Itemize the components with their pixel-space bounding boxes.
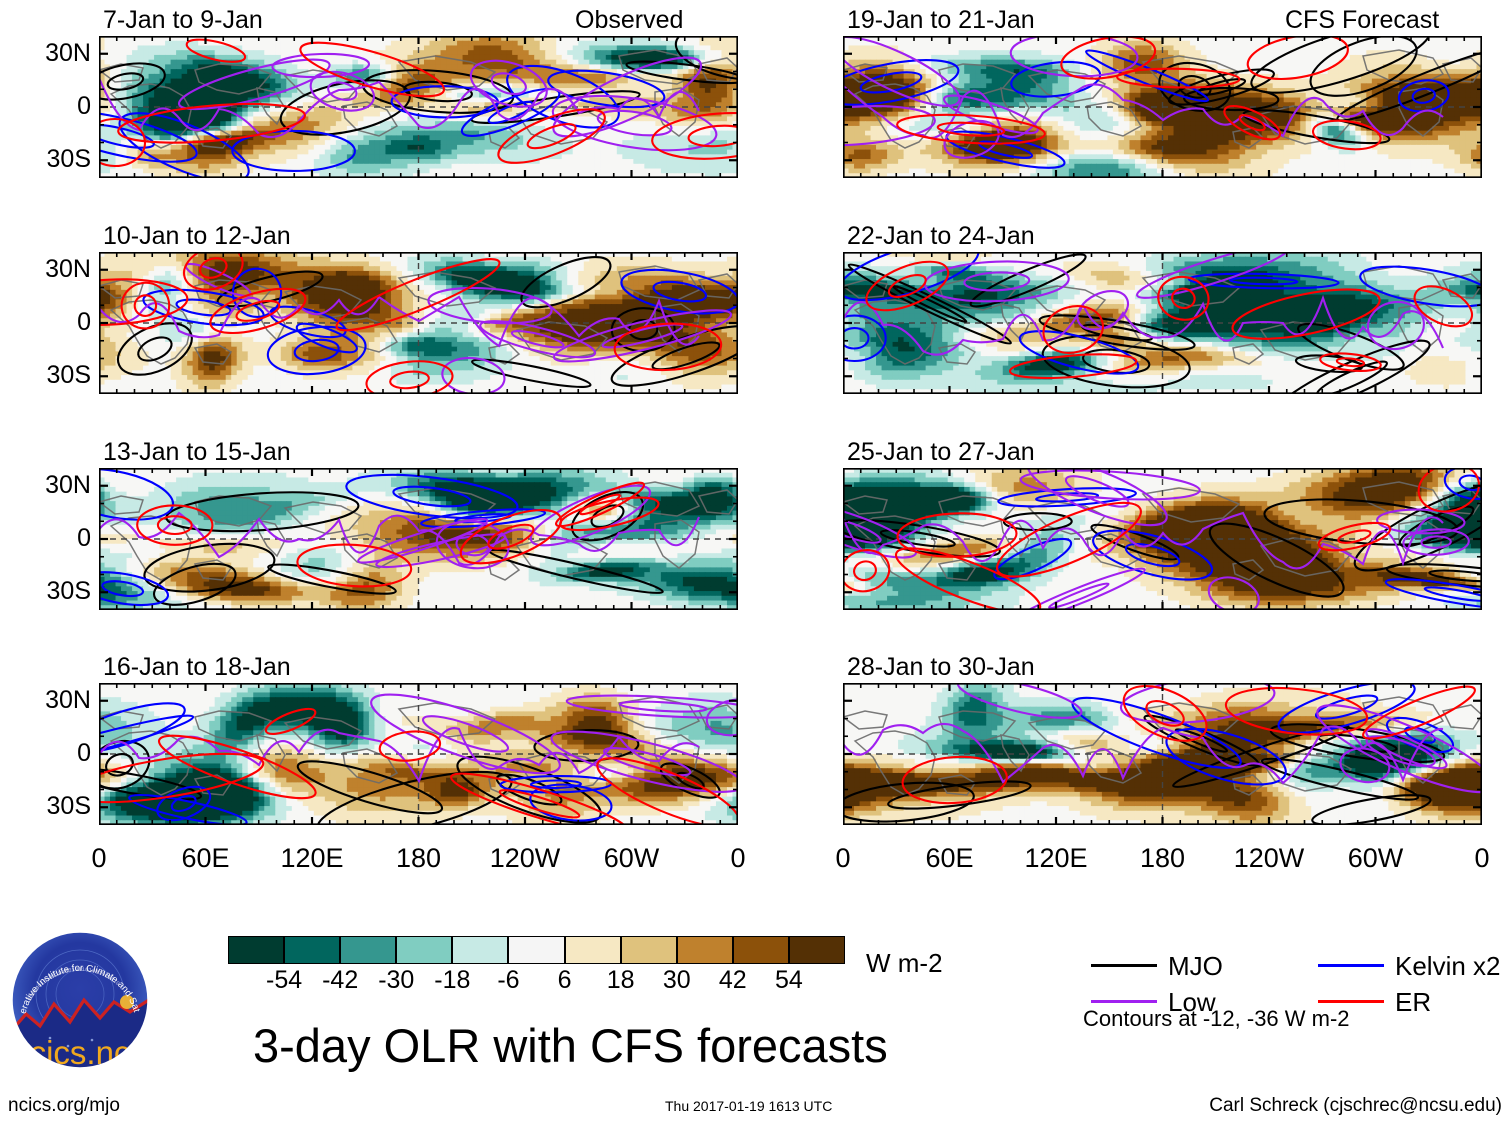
y-tick-label: 30S bbox=[3, 794, 91, 819]
legend-label: MJO bbox=[1168, 953, 1223, 979]
map-canvas bbox=[843, 252, 1482, 394]
main-title: 3-day OLR with CFS forecasts bbox=[253, 1022, 888, 1069]
y-tick-label: 0 bbox=[3, 526, 91, 551]
x-tick-label: 0 bbox=[678, 845, 798, 872]
x-tick-label: 0 bbox=[39, 845, 159, 872]
legend-line-er bbox=[1318, 1000, 1384, 1003]
colorbar-segment bbox=[565, 936, 621, 964]
x-tick-label: 120E bbox=[252, 845, 372, 872]
x-tick-label: 0 bbox=[783, 845, 903, 872]
colorbar bbox=[228, 936, 845, 964]
map-canvas bbox=[843, 468, 1482, 610]
colorbar-segment bbox=[284, 936, 340, 964]
legend-label: ER bbox=[1395, 989, 1431, 1015]
colorbar-segment bbox=[396, 936, 452, 964]
y-tick-label: 0 bbox=[3, 310, 91, 335]
x-tick-label: 180 bbox=[1103, 845, 1223, 872]
x-tick-label: 120W bbox=[465, 845, 585, 872]
colorbar-segment bbox=[789, 936, 845, 964]
map-panel-p7 bbox=[843, 468, 1482, 610]
map-panel-p8 bbox=[843, 683, 1482, 825]
y-tick-label: 30N bbox=[3, 688, 91, 713]
map-panel-p2 bbox=[99, 252, 738, 394]
x-tick-label: 120W bbox=[1209, 845, 1329, 872]
colorbar-units-label: W m-2 bbox=[866, 950, 943, 976]
legend-line-mjo bbox=[1091, 964, 1157, 967]
y-tick-label: 30N bbox=[3, 473, 91, 498]
panel-title-p5: 19-Jan to 21-Jan bbox=[847, 8, 1035, 33]
x-tick-label: 60E bbox=[890, 845, 1010, 872]
map-canvas bbox=[99, 36, 738, 178]
panel-title-p2: 10-Jan to 12-Jan bbox=[103, 224, 291, 249]
map-panel-p6 bbox=[843, 252, 1482, 394]
legend-line-low bbox=[1091, 1000, 1157, 1003]
column-header-right: CFS Forecast bbox=[1285, 8, 1439, 33]
map-panel-p5 bbox=[843, 36, 1482, 178]
panel-title-p6: 22-Jan to 24-Jan bbox=[847, 224, 1035, 249]
colorbar-segment bbox=[452, 936, 508, 964]
x-tick-label: 60W bbox=[572, 845, 692, 872]
footer-timestamp: Thu 2017-01-19 1613 UTC bbox=[665, 1099, 832, 1113]
map-canvas bbox=[99, 252, 738, 394]
y-tick-label: 30N bbox=[3, 257, 91, 282]
map-canvas bbox=[99, 468, 738, 610]
x-tick-label: 0 bbox=[1422, 845, 1510, 872]
map-canvas bbox=[99, 683, 738, 825]
y-tick-label: 30S bbox=[3, 363, 91, 388]
colorbar-segment bbox=[733, 936, 789, 964]
map-panel-p3 bbox=[99, 468, 738, 610]
colorbar-segment bbox=[677, 936, 733, 964]
colorbar-segment bbox=[508, 936, 564, 964]
logo-wordmark: cics.nc bbox=[30, 1034, 131, 1070]
y-tick-label: 0 bbox=[3, 94, 91, 119]
panel-title-p8: 28-Jan to 30-Jan bbox=[847, 655, 1035, 680]
colorbar-segment bbox=[340, 936, 396, 964]
colorbar-segment bbox=[621, 936, 677, 964]
panel-title-p4: 16-Jan to 18-Jan bbox=[103, 655, 291, 680]
map-panel-p1 bbox=[99, 36, 738, 178]
footer-left[interactable]: ncics.org/mjo bbox=[8, 1096, 120, 1115]
colorbar-segment bbox=[228, 936, 284, 964]
column-header-left: Observed bbox=[575, 8, 683, 33]
x-tick-label: 120E bbox=[996, 845, 1116, 872]
colorbar-tick-label: 54 bbox=[744, 968, 834, 993]
y-tick-label: 30S bbox=[3, 147, 91, 172]
x-tick-label: 180 bbox=[359, 845, 479, 872]
panel-title-p7: 25-Jan to 27-Jan bbox=[847, 440, 1035, 465]
legend-label: Kelvin x2 bbox=[1395, 953, 1501, 979]
map-canvas bbox=[843, 683, 1482, 825]
y-tick-label: 30S bbox=[3, 579, 91, 604]
y-tick-label: 30N bbox=[3, 41, 91, 66]
panel-title-p1: 7-Jan to 9-Jan bbox=[103, 8, 263, 33]
footer-right: Carl Schreck (cjschrec@ncsu.edu) bbox=[1209, 1096, 1502, 1115]
cics-logo: 1101001010110100101101001011010 cics.nc … bbox=[10, 930, 150, 1070]
x-tick-label: 60E bbox=[146, 845, 266, 872]
map-panel-p4 bbox=[99, 683, 738, 825]
x-tick-label: 60W bbox=[1316, 845, 1436, 872]
contour-note: Contours at -12, -36 W m-2 bbox=[1083, 1008, 1350, 1030]
legend-line-kelvin-x2 bbox=[1318, 964, 1384, 967]
panel-title-p3: 13-Jan to 15-Jan bbox=[103, 440, 291, 465]
y-tick-label: 0 bbox=[3, 741, 91, 766]
map-canvas bbox=[843, 36, 1482, 178]
